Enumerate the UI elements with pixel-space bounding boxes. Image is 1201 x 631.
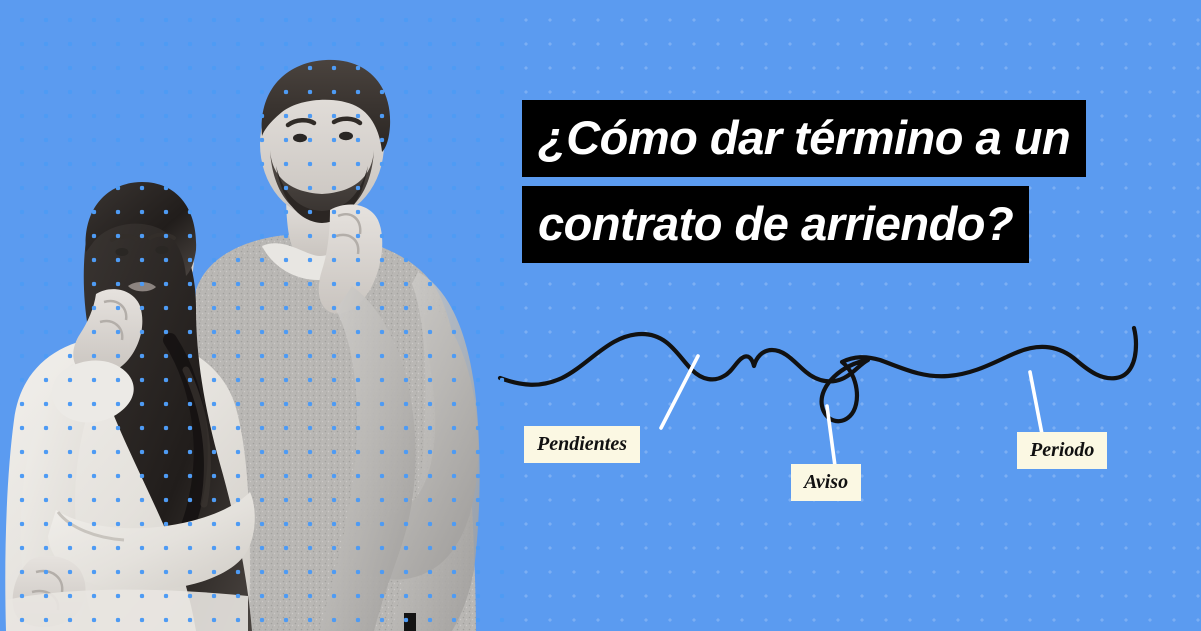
callout-label-aviso: Aviso: [791, 464, 861, 501]
headline-line-1-part2: a un: [963, 111, 1070, 164]
wavy-line-with-loop-icon: [470, 300, 1170, 440]
headline-line-1-part1: ¿Cómo dar: [538, 111, 794, 164]
banner-canvas: ¿Cómo dar término a un contrato de arrie…: [0, 0, 1201, 631]
connector-periodo: [1030, 372, 1042, 434]
headline-line-1: ¿Cómo dar término a un: [522, 100, 1086, 177]
headline-line-2: contrato de arriendo?: [522, 186, 1029, 263]
headline: ¿Cómo dar término a un contrato de arrie…: [522, 100, 1086, 263]
couple-photo: [0, 40, 512, 631]
connector-aviso: [827, 406, 835, 466]
headline-emphasis-termino: término: [794, 111, 963, 164]
callout-label-periodo: Periodo: [1017, 432, 1107, 469]
connector-pendientes: [661, 356, 698, 428]
callout-label-pendientes: Pendientes: [524, 426, 640, 463]
